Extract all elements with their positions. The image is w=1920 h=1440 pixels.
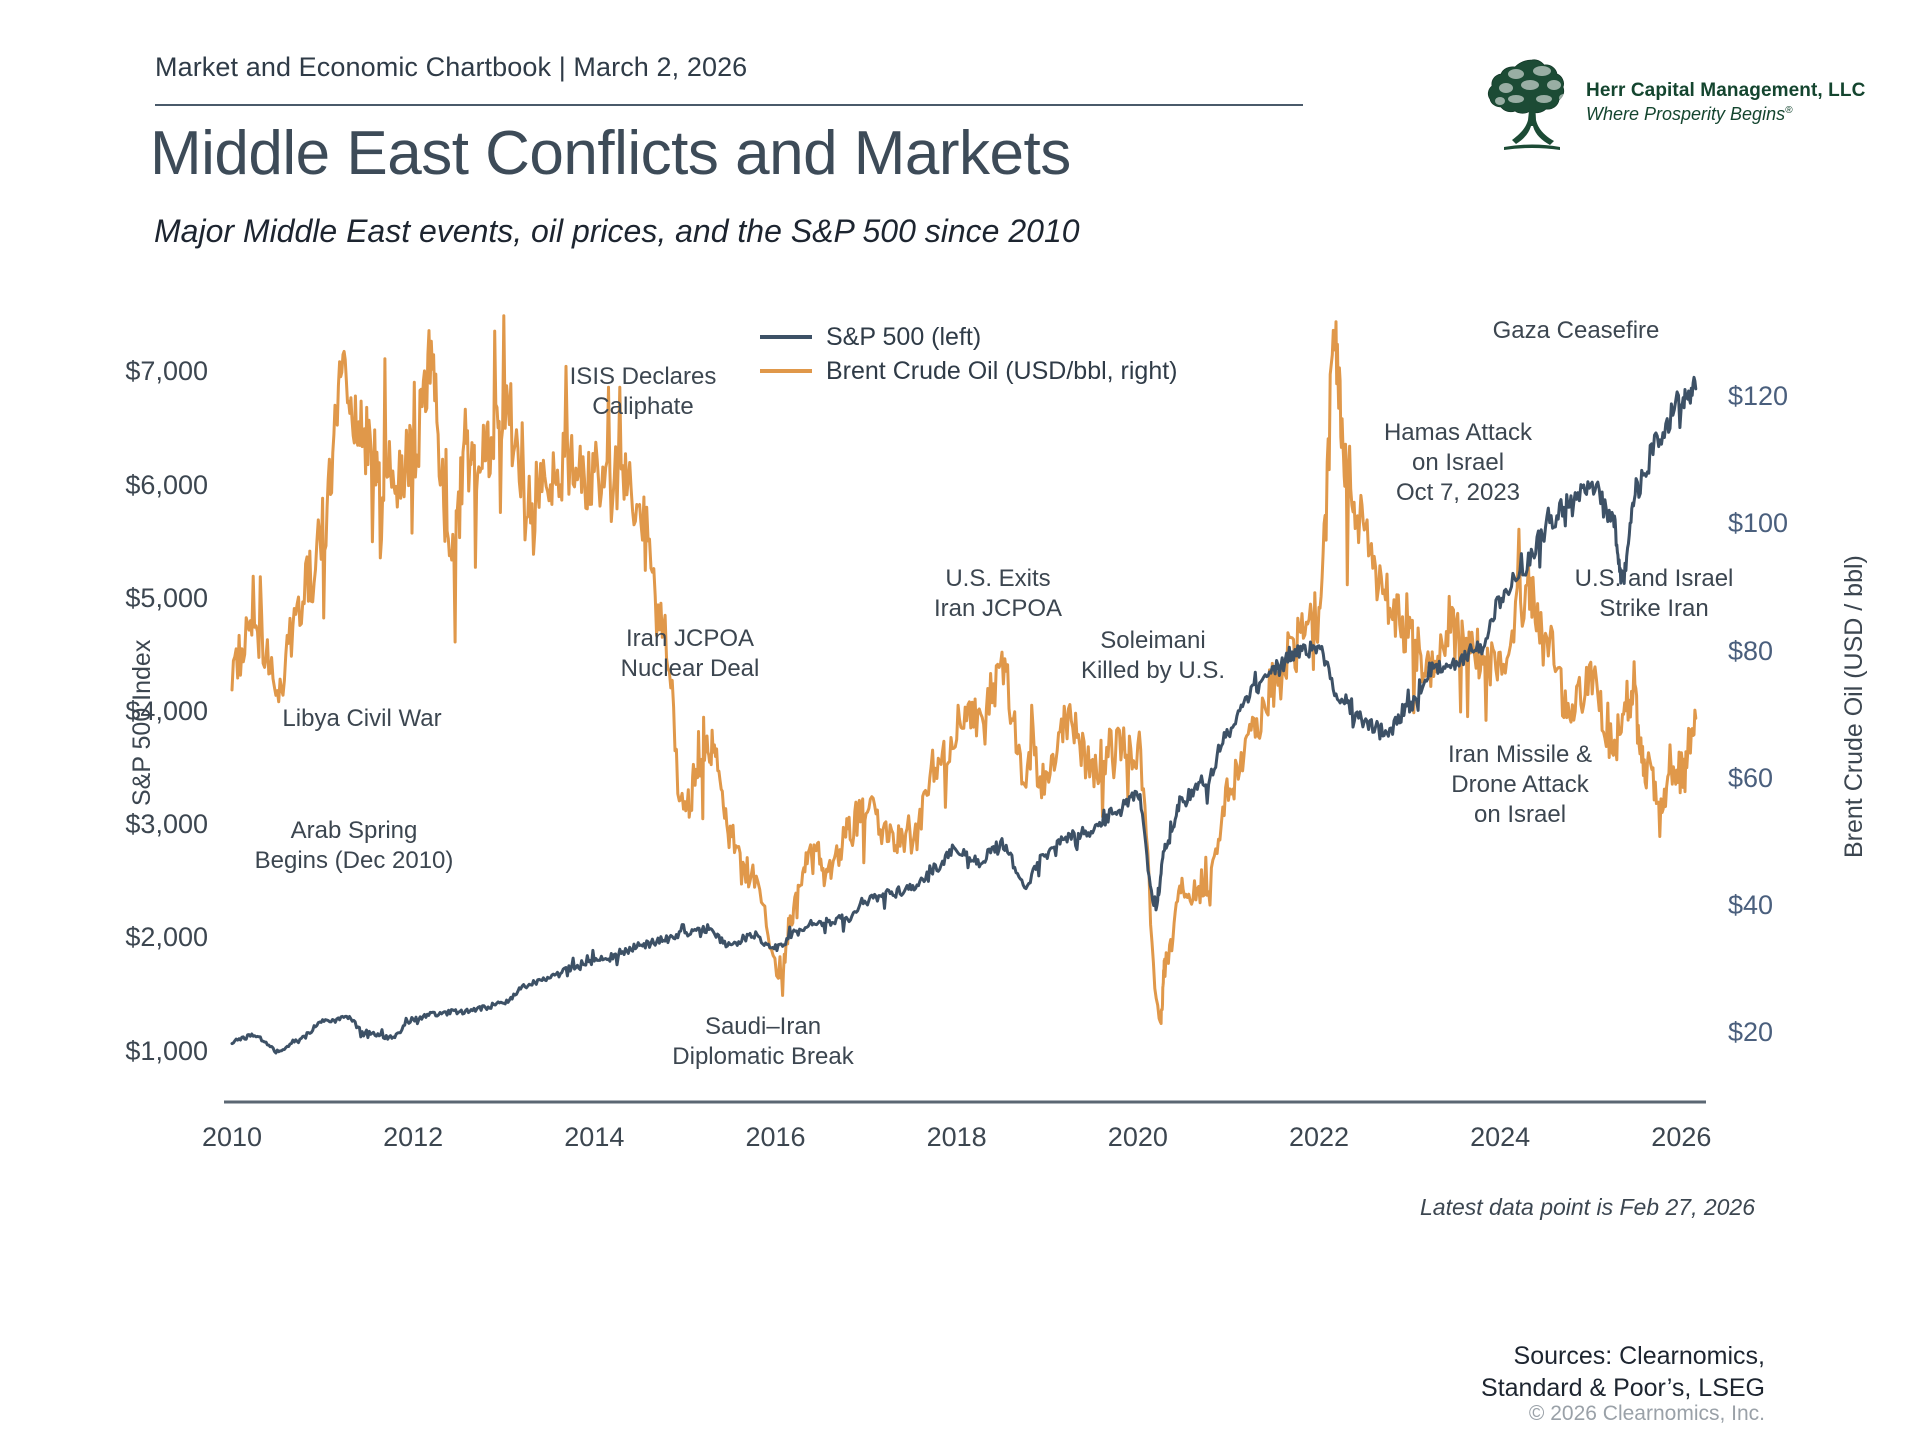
latest-data-note: Latest data point is Feb 27, 2026 (1420, 1194, 1755, 1221)
y-axis-tick: $1,000 (0, 1036, 208, 1067)
y-axis-tick: $5,000 (0, 583, 208, 614)
x-axis-tick: 2016 (716, 1122, 836, 1153)
y2-axis-title: Brent Crude Oil (USD / bbl) (1840, 555, 1869, 858)
annotation-arab-spring: Arab Spring Begins (Dec 2010) (254, 816, 454, 876)
y-axis-tick: $4,000 (0, 696, 208, 727)
y2-axis-tick: $40 (1728, 890, 1773, 921)
y2-axis-tick: $120 (1728, 381, 1788, 412)
annotation-isis: ISIS Declares Caliphate (535, 362, 751, 422)
annotation-strike-iran: U.S. and Israel Strike Iran (1548, 564, 1760, 624)
copyright-note: © 2026 Clearnomics, Inc. (1529, 1402, 1765, 1426)
legend-label-brent: Brent Crude Oil (USD/bbl, right) (826, 357, 1178, 386)
x-axis-tick: 2012 (353, 1122, 473, 1153)
sources-note: Sources: Clearnomics, Standard & Poor’s,… (1481, 1340, 1765, 1404)
annotation-jcpoa: Iran JCPOA Nuclear Deal (582, 624, 798, 684)
legend-item-sp500[interactable]: S&P 500 (left) (760, 320, 1178, 354)
annotation-saudi-iran: Saudi–Iran Diplomatic Break (638, 1012, 888, 1072)
x-axis-tick: 2022 (1259, 1122, 1379, 1153)
annotation-gaza: Gaza Ceasefire (1466, 316, 1686, 346)
y2-axis-tick: $100 (1728, 508, 1788, 539)
annotation-hamas: Hamas Attack on Israel Oct 7, 2023 (1352, 418, 1564, 507)
x-axis-tick: 2010 (172, 1122, 292, 1153)
chart-legend: S&P 500 (left) Brent Crude Oil (USD/bbl,… (760, 320, 1178, 388)
annotation-iran-missile: Iran Missile & Drone Attack on Israel (1414, 740, 1626, 829)
legend-item-brent[interactable]: Brent Crude Oil (USD/bbl, right) (760, 354, 1178, 388)
y-axis-tick: $7,000 (0, 356, 208, 387)
x-axis-tick: 2014 (534, 1122, 654, 1153)
y-axis-tick: $6,000 (0, 470, 208, 501)
y-axis-tick: $2,000 (0, 922, 208, 953)
y2-axis-tick: $80 (1728, 636, 1773, 667)
x-axis-tick: 2026 (1621, 1122, 1741, 1153)
y2-axis-tick: $20 (1728, 1017, 1773, 1048)
x-axis-tick: 2020 (1078, 1122, 1198, 1153)
annotation-libya: Libya Civil War (262, 704, 462, 734)
legend-swatch-brent (760, 369, 812, 373)
y2-axis-tick: $60 (1728, 763, 1773, 794)
x-axis-tick: 2018 (897, 1122, 1017, 1153)
annotation-us-exits: U.S. Exits Iran JCPOA (898, 564, 1098, 624)
y-axis-tick: $3,000 (0, 809, 208, 840)
x-axis-tick: 2024 (1440, 1122, 1560, 1153)
legend-swatch-sp500 (760, 335, 812, 339)
annotation-soleimani: Soleimani Killed by U.S. (1044, 626, 1262, 686)
legend-label-sp500: S&P 500 (left) (826, 323, 981, 352)
